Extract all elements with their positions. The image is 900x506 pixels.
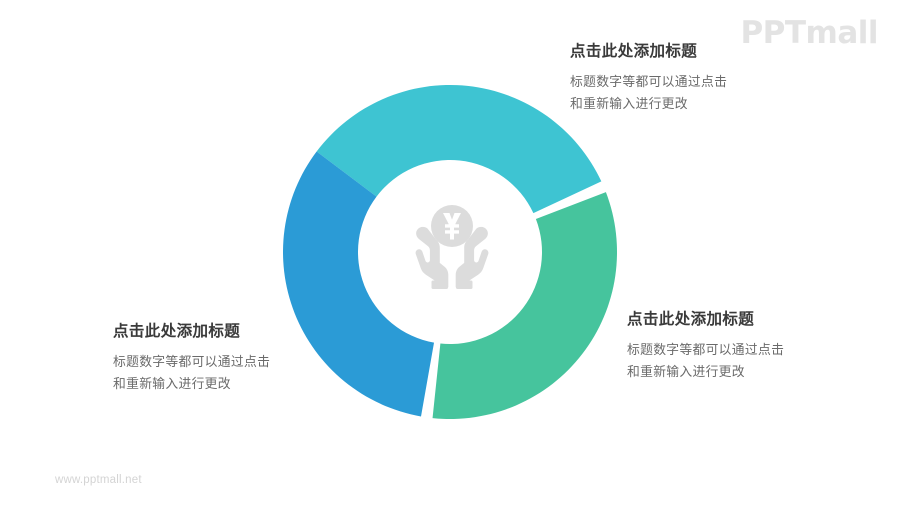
callout-top-title[interactable]: 点击此处添加标题 — [570, 42, 830, 62]
callout-left-line2[interactable]: 和重新输入进行更改 — [113, 373, 373, 395]
hands-holding-yuan-coin-icon — [405, 200, 499, 292]
callout-top-line2[interactable]: 和重新输入进行更改 — [570, 93, 830, 115]
slide-canvas: PPTmall — [0, 0, 900, 506]
callout-left-line1[interactable]: 标题数字等都可以通过点击 — [113, 351, 373, 373]
callout-top-line1[interactable]: 标题数字等都可以通过点击 — [570, 71, 830, 93]
callout-left: 点击此处添加标题 标题数字等都可以通过点击 和重新输入进行更改 — [113, 322, 373, 395]
footer-watermark-url: www.pptmall.net — [55, 474, 142, 486]
callout-left-title[interactable]: 点击此处添加标题 — [113, 322, 373, 342]
callout-right-line2[interactable]: 和重新输入进行更改 — [627, 361, 887, 383]
callout-right-title[interactable]: 点击此处添加标题 — [627, 310, 887, 330]
callout-top: 点击此处添加标题 标题数字等都可以通过点击 和重新输入进行更改 — [570, 42, 830, 115]
callout-right-line1[interactable]: 标题数字等都可以通过点击 — [627, 339, 887, 361]
callout-right: 点击此处添加标题 标题数字等都可以通过点击 和重新输入进行更改 — [627, 310, 887, 383]
